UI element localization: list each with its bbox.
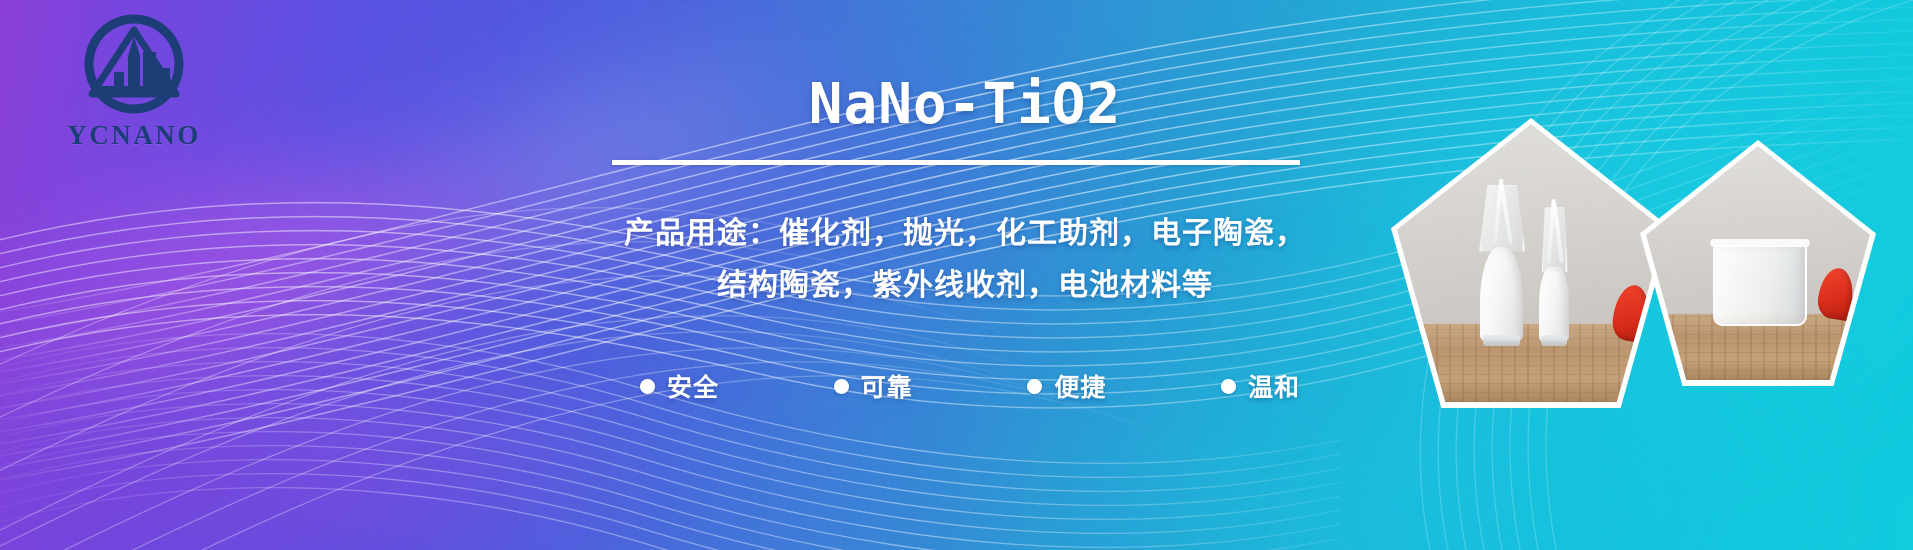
pentagon-photo-beaker	[1640, 140, 1876, 386]
logo-wordmark: YCNANO	[44, 120, 224, 151]
feature-label: 可靠	[861, 368, 913, 404]
hero-content: NaNo-TiO2 产品用途：催化剂，抛光，化工助剂，电子陶瓷， 结构陶瓷，紫外…	[430, 0, 1500, 550]
bullet-dot-icon	[1027, 379, 1042, 394]
description-line-2: 结构陶瓷，紫外线收剂，电池材料等	[430, 260, 1500, 304]
company-logo[interactable]: YCNANO	[44, 12, 224, 162]
vase-slim	[1539, 207, 1568, 340]
feature-list: 安全 可靠 便捷 温和	[640, 368, 1300, 404]
bullet-dot-icon	[1221, 379, 1236, 394]
feature-item-reliable: 可靠	[834, 368, 913, 404]
page-title: NaNo-TiO2	[430, 72, 1500, 137]
product-banner: YCNANO NaNo-TiO2 产品用途：催化剂，抛光，化工助剂，电子陶瓷， …	[0, 0, 1913, 550]
pentagon-photo-beaker-image	[1646, 146, 1870, 380]
beaker-with-white-liquid	[1713, 245, 1807, 327]
bullet-dot-icon	[834, 379, 849, 394]
feature-label: 便捷	[1054, 368, 1106, 404]
feature-item-convenient: 便捷	[1027, 368, 1106, 404]
beaker-lip	[1710, 239, 1810, 247]
title-divider	[612, 160, 1300, 165]
description-line-1: 产品用途：催化剂，抛光，化工助剂，电子陶瓷，	[430, 208, 1500, 252]
ycnano-circle-triangle-icon	[44, 12, 224, 124]
feature-item-mild: 温和	[1221, 368, 1300, 404]
feature-item-safe: 安全	[640, 368, 719, 404]
vase-tall	[1480, 185, 1523, 341]
feature-label: 温和	[1248, 368, 1300, 404]
bullet-dot-icon	[640, 379, 655, 394]
feature-label: 安全	[667, 368, 719, 404]
